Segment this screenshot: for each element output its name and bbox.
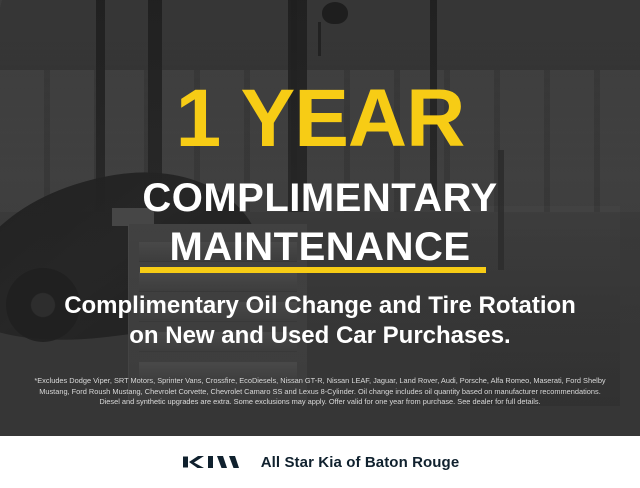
kia-logo-icon (181, 453, 247, 471)
banner-content: 1 YEAR COMPLIMENTARY MAINTENANCE Complim… (0, 0, 640, 488)
dealer-name-label: All Star Kia of Baton Rouge (261, 454, 460, 471)
disclaimer-text: *Excludes Dodge Viper, SRT Motors, Sprin… (16, 376, 624, 408)
dealer-footer: All Star Kia of Baton Rouge (0, 436, 640, 488)
subheadline-line-1: COMPLIMENTARY (142, 176, 497, 220)
offer-description: Complimentary Oil Change and Tire Rotati… (0, 291, 640, 351)
subheadline: COMPLIMENTARY MAINTENANCE (0, 178, 640, 267)
subheadline-line-2: MAINTENANCE (0, 227, 640, 267)
headline-1-year: 1 YEAR (0, 78, 640, 160)
offer-line-2: on New and Used Car Purchases. (0, 321, 640, 351)
disclaimer-line-2: Mustang, Ford Roush Mustang, Chevrolet C… (16, 387, 624, 398)
promotional-banner: 1 YEAR COMPLIMENTARY MAINTENANCE Complim… (0, 0, 640, 488)
yellow-divider-bar (140, 267, 486, 273)
disclaimer-line-1: *Excludes Dodge Viper, SRT Motors, Sprin… (16, 376, 624, 387)
offer-line-1: Complimentary Oil Change and Tire Rotati… (64, 292, 576, 319)
disclaimer-line-3: Diesel and synthetic upgrades are extra.… (16, 397, 624, 408)
